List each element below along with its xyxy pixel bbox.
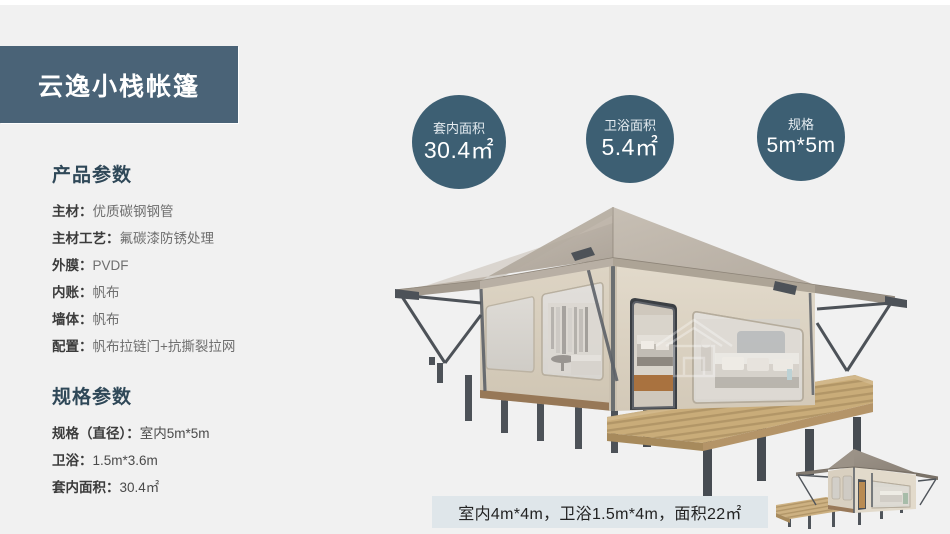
spec-value: 30.4㎡	[120, 480, 160, 495]
page-title: 云逸小栈帐篷	[38, 67, 200, 103]
spec-value: PVDF	[93, 258, 129, 273]
badge-label: 套内面积	[433, 121, 485, 137]
spec-value: 帆布	[93, 312, 120, 327]
spec-row: 主材：优质碳钢钢管	[52, 198, 352, 225]
spec-value: 帆布	[93, 285, 120, 300]
spec-value: 氟碳漆防锈处理	[120, 231, 215, 246]
badge-bathroom-area: 卫浴面积 5.4㎡	[586, 95, 674, 183]
tent-doorway	[630, 298, 677, 410]
spec-column: 产品参数 主材：优质碳钢钢管 主材工艺：氟碳漆防锈处理 外膜：PVDF 内账：帆…	[52, 160, 352, 501]
badge-value: 30.4㎡	[424, 138, 494, 163]
top-white-strip	[0, 0, 950, 5]
left-eave-arms	[401, 295, 481, 363]
spec-row: 墙体：帆布	[52, 306, 352, 333]
spec-label: 墙体：	[52, 312, 93, 327]
badge-dimensions: 规格 5m*5m	[757, 93, 845, 181]
badge-label: 规格	[788, 117, 814, 133]
spec-row: 配置：帆布拉链门+抗撕裂拉网	[52, 333, 352, 360]
spec-row: 内账：帆布	[52, 279, 352, 306]
spec-label: 套内面积：	[52, 480, 120, 495]
badge-value: 5m*5m	[766, 134, 835, 157]
spec-value: 帆布拉链门+抗撕裂拉网	[93, 339, 236, 354]
spec-value: 室内5m*5m	[140, 426, 210, 441]
badge-interior-area: 套内面积 30.4㎡	[412, 95, 506, 189]
section-heading-product: 产品参数	[52, 160, 352, 187]
spec-row: 主材工艺：氟碳漆防锈处理	[52, 225, 352, 252]
badge-value: 5.4㎡	[602, 135, 659, 160]
spec-label: 卫浴：	[52, 453, 93, 468]
spec-label: 外膜：	[52, 258, 93, 273]
caption-bar: 室内4m*4m，卫浴1.5m*4m，面积22㎡	[432, 496, 768, 528]
tent-thumbnail	[768, 443, 948, 534]
badge-label: 卫浴面积	[604, 118, 656, 134]
spec-label: 规格（直径）：	[52, 426, 140, 441]
section-heading-spec: 规格参数	[52, 382, 352, 409]
spec-value: 优质碳钢钢管	[93, 204, 174, 219]
spec-value: 1.5m*3.6m	[93, 453, 158, 468]
product-spec-page: 云逸小栈帐篷 产品参数 主材：优质碳钢钢管 主材工艺：氟碳漆防锈处理 外膜：PV…	[0, 0, 950, 534]
title-banner: 云逸小栈帐篷	[0, 46, 238, 123]
spec-label: 内账：	[52, 285, 93, 300]
spec-label: 配置：	[52, 339, 93, 354]
right-eave-arms	[817, 303, 891, 371]
spec-label: 主材：	[52, 204, 93, 219]
caption-text: 室内4m*4m，卫浴1.5m*4m，面积22㎡	[458, 500, 741, 524]
spec-row: 规格（直径）：室内5m*5m	[52, 420, 352, 447]
spec-row: 卫浴：1.5m*3.6m	[52, 447, 352, 474]
spec-param-list: 规格（直径）：室内5m*5m 卫浴：1.5m*3.6m 套内面积：30.4㎡	[52, 420, 352, 501]
front-wall-window	[693, 312, 803, 403]
spec-row: 套内面积：30.4㎡	[52, 474, 352, 501]
spec-label: 主材工艺：	[52, 231, 120, 246]
product-param-list: 主材：优质碳钢钢管 主材工艺：氟碳漆防锈处理 外膜：PVDF 内账：帆布 墙体：…	[52, 198, 352, 360]
spec-row: 外膜：PVDF	[52, 252, 352, 279]
